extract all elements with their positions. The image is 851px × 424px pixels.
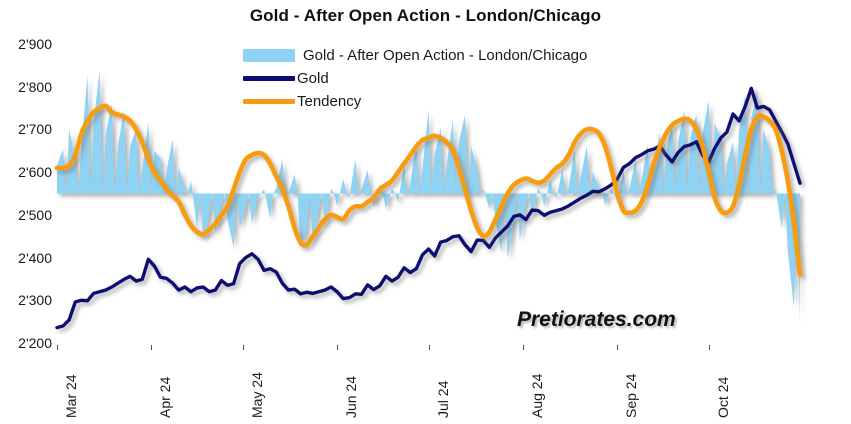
legend-item-gold[interactable]: Gold bbox=[243, 67, 643, 90]
legend-item-tendency[interactable]: Tendency bbox=[243, 90, 643, 113]
chart-container: Gold - After Open Action - London/Chicag… bbox=[0, 0, 851, 424]
line-swatch-icon-tendency bbox=[243, 99, 295, 104]
watermark: Pretiorates.com bbox=[517, 308, 676, 332]
legend-label-gold: Gold bbox=[297, 70, 329, 87]
area-swatch-icon bbox=[243, 49, 295, 62]
legend-label-area: Gold - After Open Action - London/Chicag… bbox=[303, 47, 587, 64]
chart-legend: Gold - After Open Action - London/Chicag… bbox=[243, 44, 643, 113]
line-swatch-icon-gold bbox=[243, 76, 295, 81]
legend-item-area[interactable]: Gold - After Open Action - London/Chicag… bbox=[243, 44, 643, 67]
legend-label-tendency: Tendency bbox=[297, 93, 361, 110]
